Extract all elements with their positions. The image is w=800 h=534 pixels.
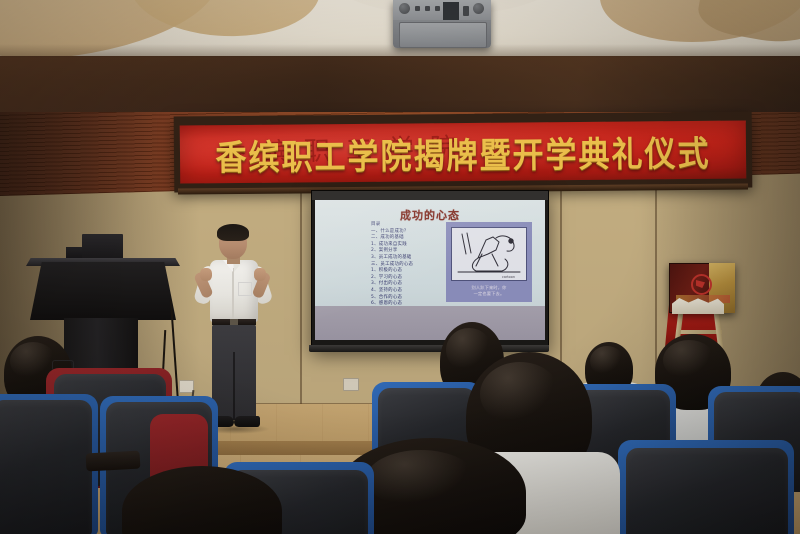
projector-reel-left <box>399 3 410 14</box>
screen-glare <box>315 200 545 340</box>
head-highlight <box>446 328 492 372</box>
podium-monitor <box>82 234 123 260</box>
banner-title-text: 香缤职工学院揭牌暨开学典礼仪式 <box>215 125 710 180</box>
presenter-hand-left <box>200 268 212 281</box>
presenter-belt-buckle <box>230 319 238 325</box>
presenter-shirt-placket <box>232 268 234 320</box>
wall-seam-1 <box>300 172 302 442</box>
screen-bottom-weight-bar <box>309 345 549 352</box>
projector-switch <box>463 6 469 16</box>
head-highlight <box>366 450 476 508</box>
head-highlight <box>480 362 560 426</box>
presenter-hand-right <box>254 268 266 281</box>
head-highlight <box>663 340 715 380</box>
screen-surface: 成功的心态 目录一、什么是成功？二、成功的基础1、成功来自实践2、案例分享3、员… <box>315 200 545 340</box>
presenter-shirt-pocket <box>238 282 252 296</box>
presenter-hair <box>217 224 249 241</box>
projection-screen: 成功的心态 目录一、什么是成功？二、成功的基础1、成功来自实践2、案例分享3、员… <box>311 190 549 349</box>
head-highlight <box>590 346 624 376</box>
chair-front-right[interactable] <box>626 448 788 534</box>
lectern <box>30 262 176 320</box>
projector-knob-b <box>425 6 430 11</box>
projector-reel-right <box>473 3 484 14</box>
beam-highlight <box>0 56 800 118</box>
projector-knob-a <box>415 6 420 11</box>
projector-knob-c <box>435 6 440 11</box>
presenter-shoe-right <box>234 416 260 427</box>
wall-outlet-center <box>343 378 359 391</box>
screen-top-bar <box>312 191 548 200</box>
banner-frame: 香缤职工学院 香缤职工学院揭牌暨开学典礼仪式 <box>174 111 753 192</box>
chair-front-left[interactable] <box>0 400 92 534</box>
institute-logo-icon <box>691 274 712 295</box>
plaque-white-drape <box>672 298 724 314</box>
auditorium-photo: 香缤职工学院 香缤职工学院揭牌暨开学典礼仪式 成功的心态 目录一、什么是成功？二… <box>0 0 800 534</box>
ceiling-projector <box>393 0 491 48</box>
projector-lens-housing <box>399 22 487 48</box>
ceiling-beam <box>0 56 800 118</box>
chair-armrest-left <box>86 451 141 472</box>
presenter-trouser-seam <box>233 352 235 420</box>
projector-control-block <box>443 2 459 20</box>
ceremony-banner: 香缤职工学院 香缤职工学院揭牌暨开学典礼仪式 <box>180 121 746 184</box>
